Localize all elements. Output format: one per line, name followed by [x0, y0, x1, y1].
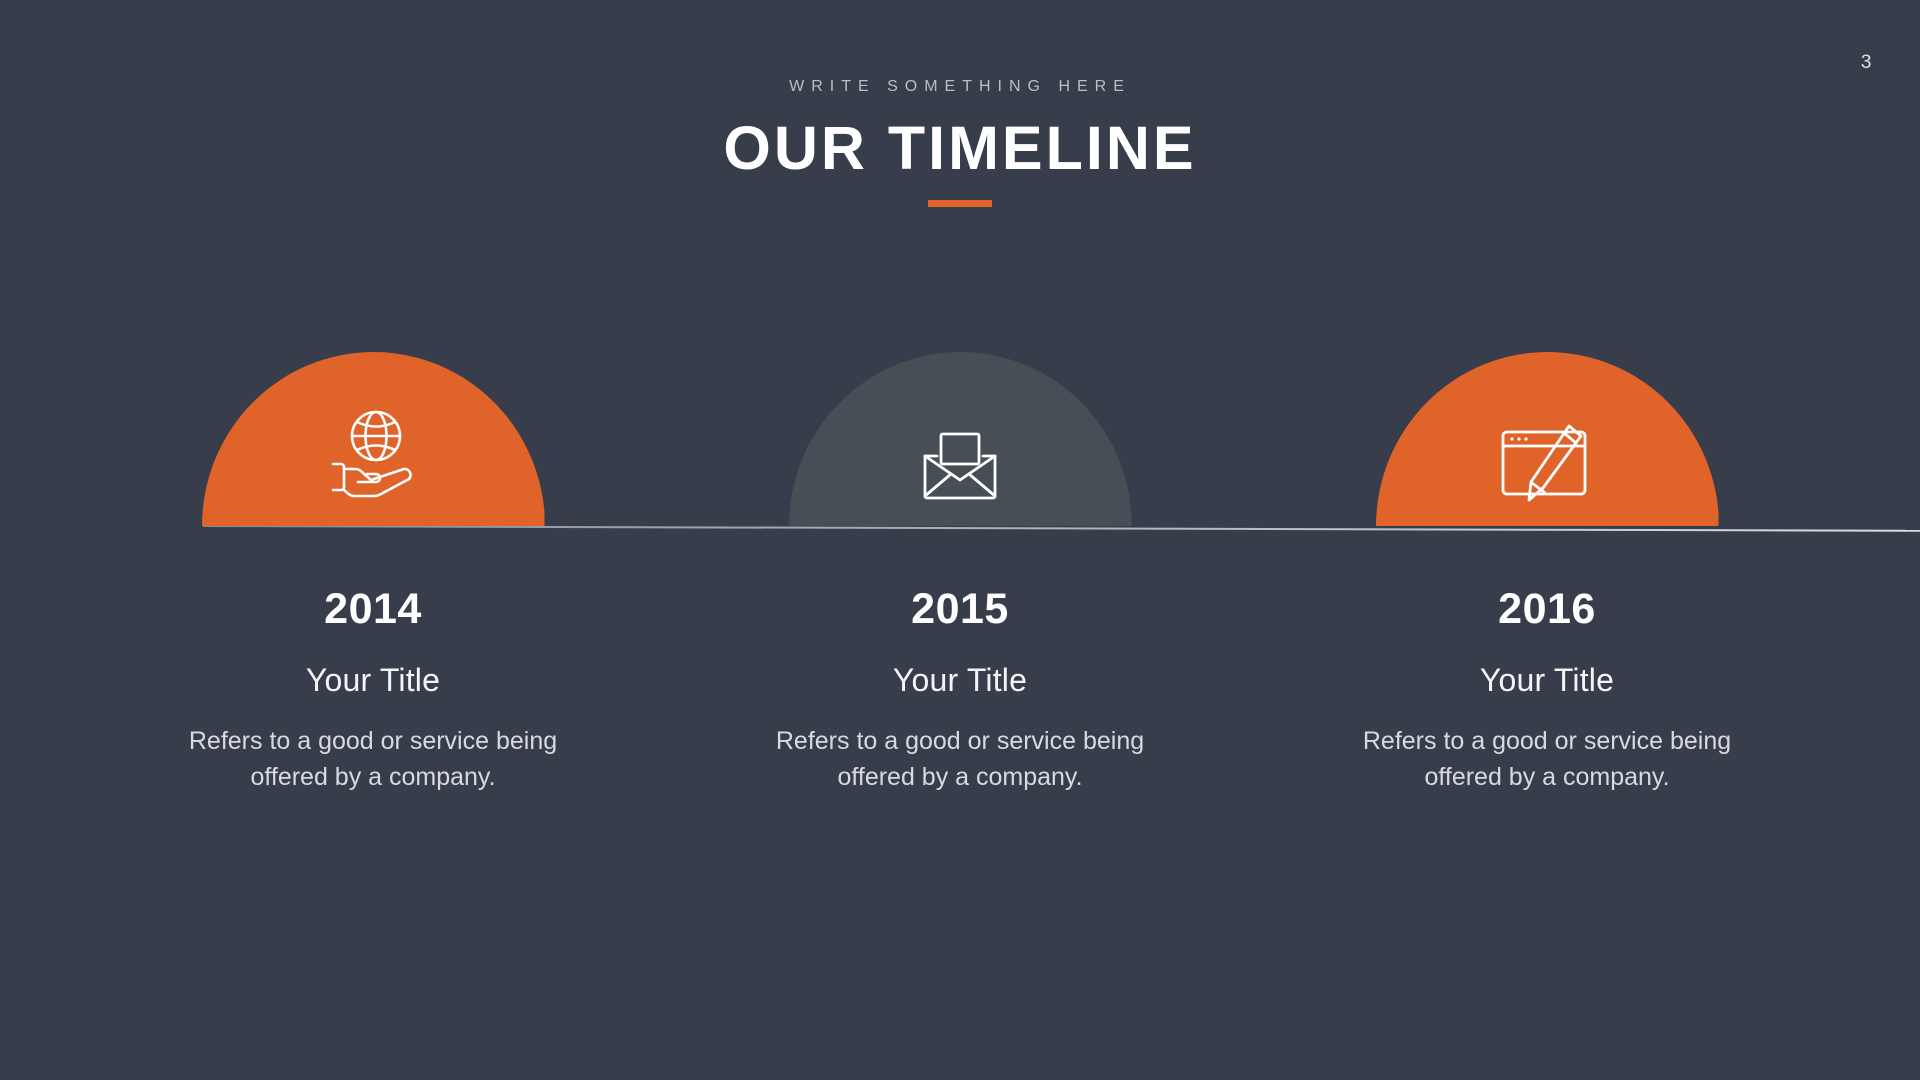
timeline-container: 2014 Your Title Refers to a good or serv… — [0, 352, 1920, 795]
timeline-body: Refers to a good or service being offere… — [1347, 724, 1747, 795]
timeline-marker-2014[interactable] — [202, 352, 545, 526]
page-title: OUR TIMELINE — [0, 116, 1920, 180]
slide-header: WRITE SOMETHING HERE OUR TIMELINE — [0, 78, 1920, 207]
timeline-body: Refers to a good or service being offere… — [173, 724, 573, 795]
timeline-year: 2016 — [1498, 588, 1596, 631]
title-accent-bar — [928, 200, 992, 207]
timeline-marker-2016[interactable] — [1376, 352, 1719, 526]
timeline-year: 2015 — [911, 588, 1009, 631]
timeline-subtitle: Your Title — [1480, 664, 1614, 696]
timeline-body: Refers to a good or service being offere… — [760, 724, 1160, 795]
timeline-subtitle: Your Title — [893, 664, 1027, 696]
timeline-item-2014[interactable]: 2014 Your Title Refers to a good or serv… — [80, 352, 667, 795]
slide-canvas: 3 WRITE SOMETHING HERE OUR TIMELINE — [0, 0, 1920, 1080]
timeline-marker-2015[interactable] — [789, 352, 1132, 526]
globe-in-hand-icon — [202, 352, 545, 526]
timeline-subtitle: Your Title — [306, 664, 440, 696]
timeline-item-2016[interactable]: 2016 Your Title Refers to a good or serv… — [1254, 352, 1841, 795]
timeline-item-2015[interactable]: 2015 Your Title Refers to a good or serv… — [667, 352, 1254, 795]
page-number: 3 — [1861, 52, 1872, 74]
timeline-year: 2014 — [324, 588, 422, 631]
open-envelope-icon — [789, 352, 1132, 526]
header-eyebrow: WRITE SOMETHING HERE — [0, 78, 1920, 96]
browser-window-pencil-icon — [1376, 352, 1719, 526]
